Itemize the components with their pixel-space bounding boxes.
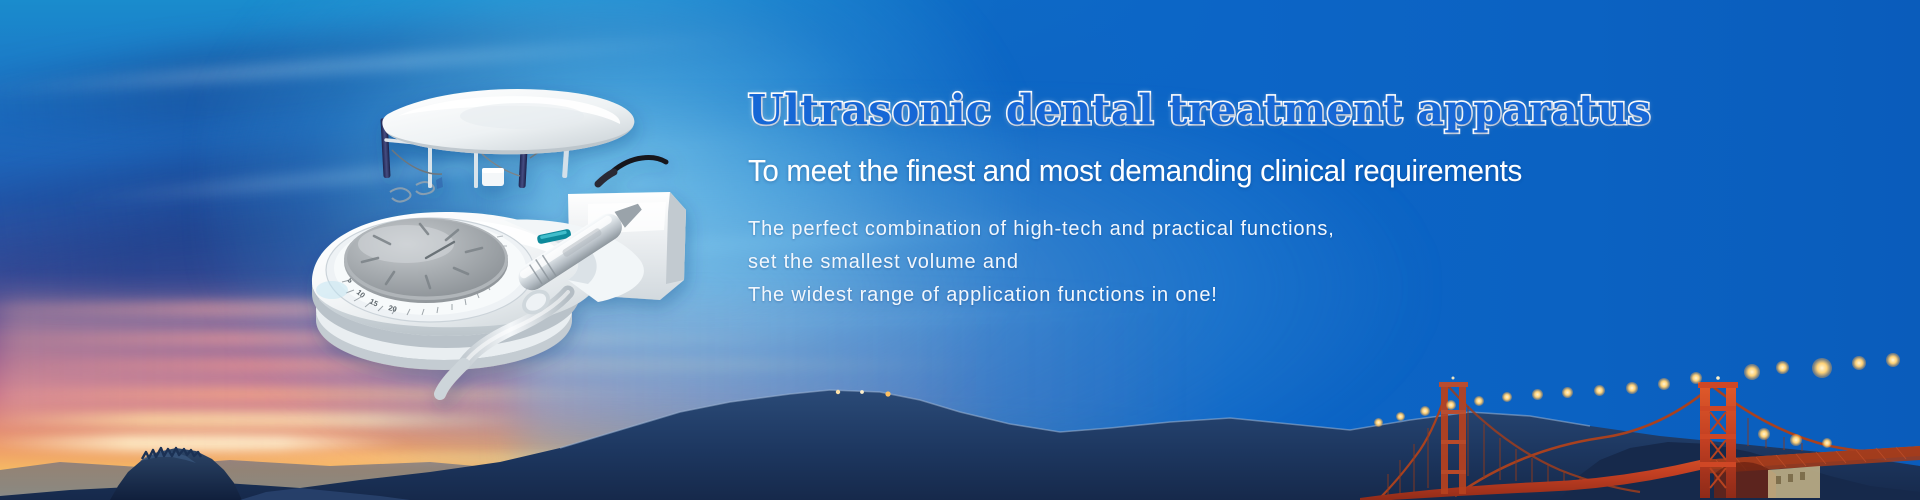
banner-title: Ultrasonic dental treatment apparatus <box>748 86 1788 134</box>
banner-copy: Ultrasonic dental treatment apparatus To… <box>748 86 1788 312</box>
banner-body: The perfect combination of high-tech and… <box>748 213 1788 312</box>
body-line: The perfect combination of high-tech and… <box>748 213 1788 246</box>
ultrasonic-scaler-device: 20 15 10 5 0 <box>268 44 708 394</box>
banner-subtitle: To meet the finest and most demanding cl… <box>748 153 1741 189</box>
body-line: The widest range of application function… <box>748 279 1788 312</box>
body-line: set the smallest volume and <box>748 246 1788 279</box>
hero-banner: 20 15 10 5 0 <box>0 0 1920 500</box>
brand-emboss <box>390 182 434 202</box>
